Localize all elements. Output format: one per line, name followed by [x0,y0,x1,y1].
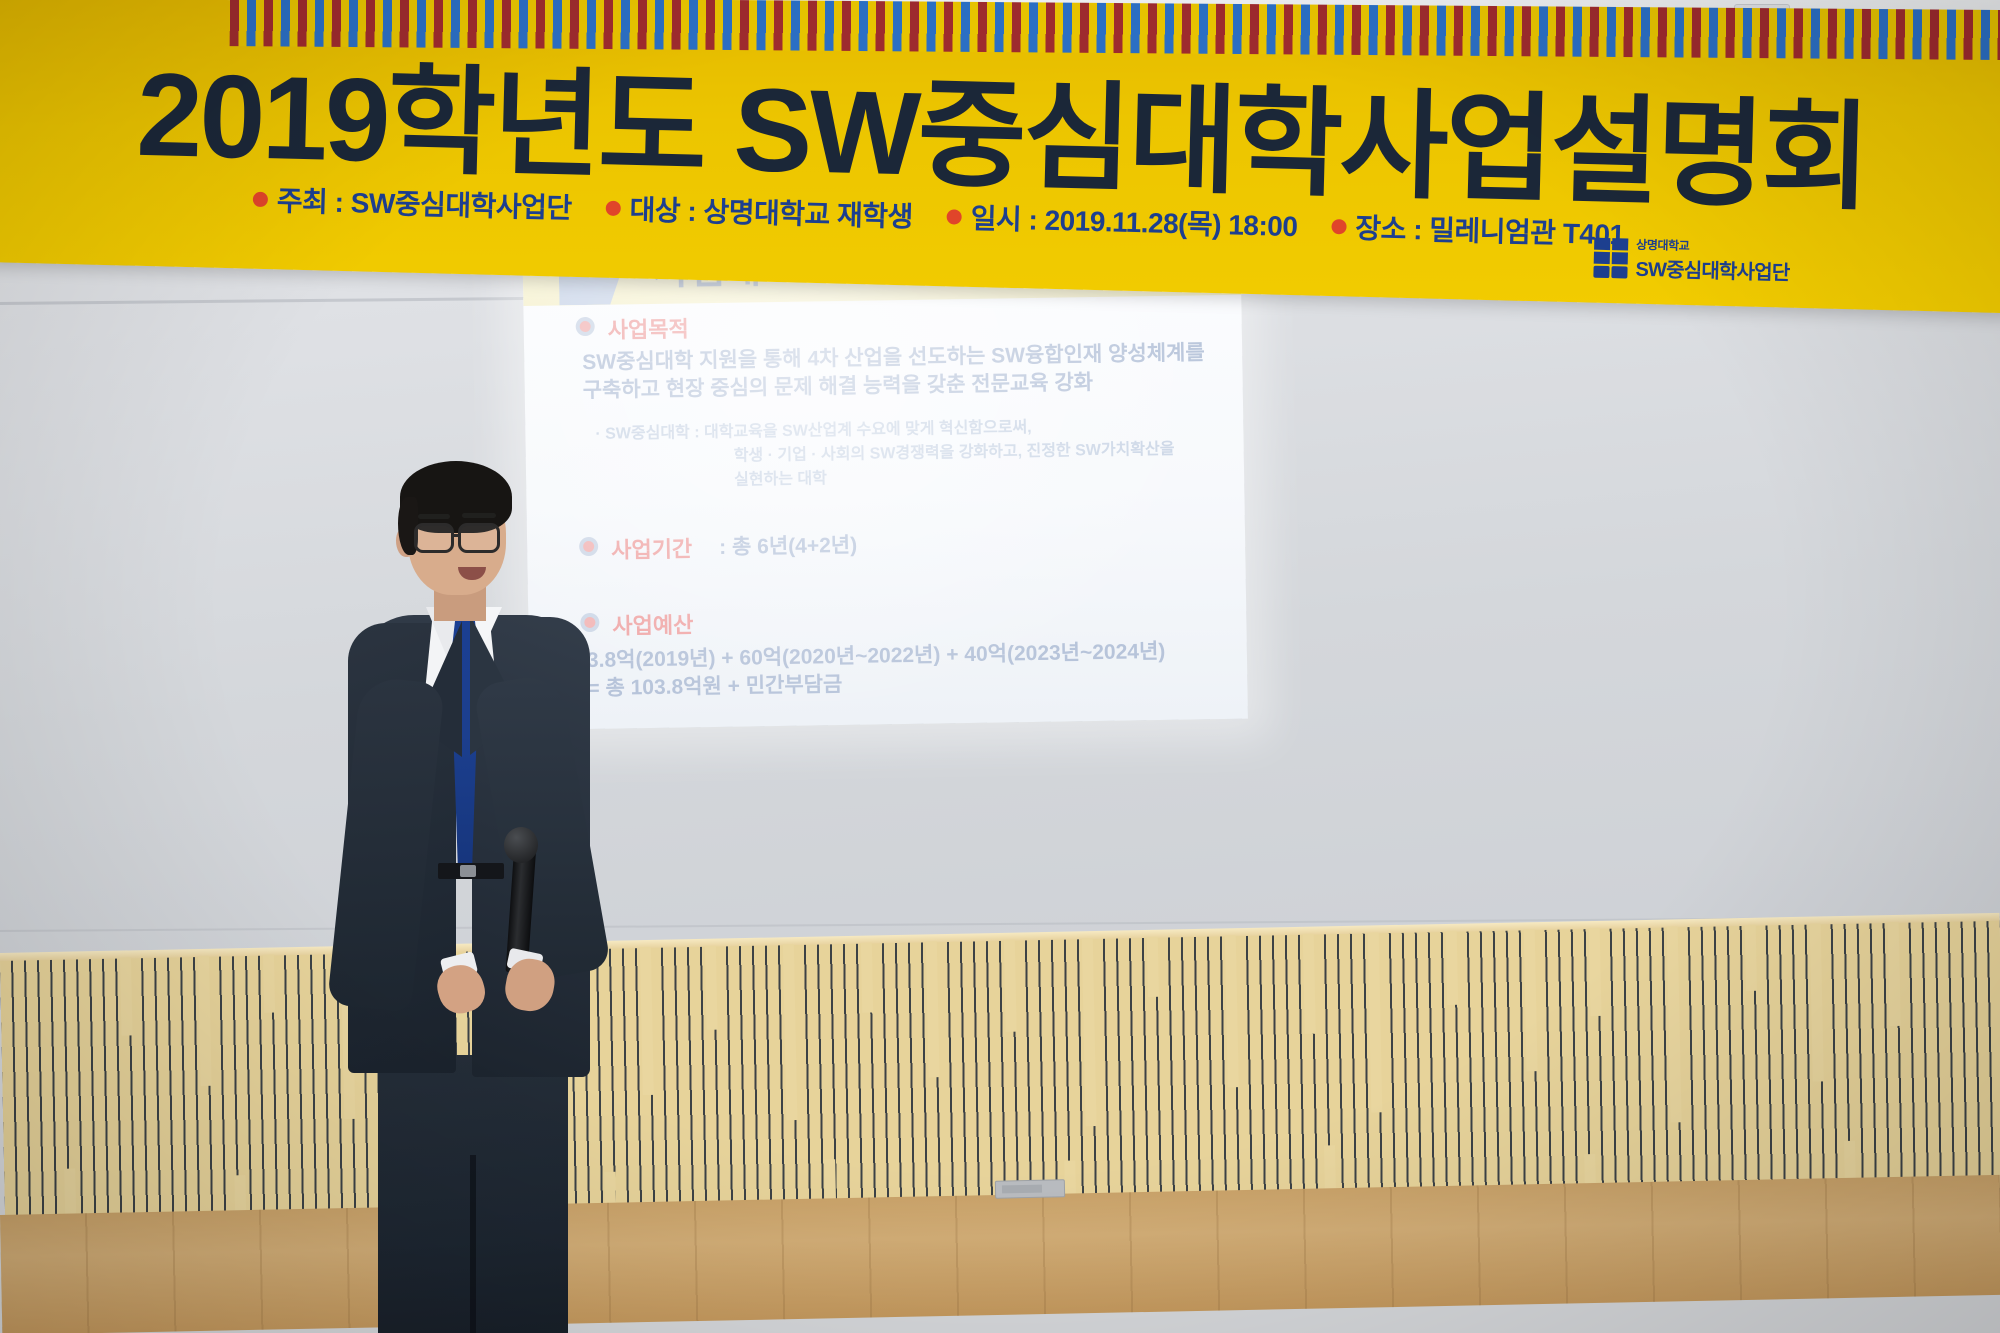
banner-info-label: 장소 : 밀레니엄관 T401 [1355,207,1625,254]
logo-program-name: SW중심대학사업단 [1635,253,1790,286]
purpose-subnote: · SW중심대학 : 대학교육을 SW산업계 수요에 맞게 혁신함으로써, 학생… [595,414,1175,495]
banner-info-label: 일시 : 2019.11.28(목) 18:00 [970,197,1298,245]
eyebrow-right [462,513,496,518]
red-dot-icon [605,200,620,215]
slat-stub [705,946,718,1030]
banner-info-label: 주최 : SW중심대학사업단 [276,179,572,226]
eyeglasses-right-lens [458,523,500,553]
slat-stub [1004,940,1017,1032]
event-banner: 2019학년도 SW중심대학사업설명회 주최 : SW중심대학사업단 대상 : … [0,0,2000,313]
organization-logo: 상명대학교 SW중심대학사업단 [1593,235,1790,286]
slat-stub [1589,928,1602,1016]
presenter-figure [330,455,630,1333]
slat-stub [120,957,133,1035]
section-heading: 사업목적 [607,311,688,344]
banner-info-item: 일시 : 2019.11.28(목) 18:00 [946,196,1298,245]
bullet-dot-icon [576,317,595,336]
banner-info-item: 장소 : 밀레니엄관 T401 [1331,206,1625,253]
slat-stub [1446,931,1458,1005]
eyeglasses-bridge [453,534,461,537]
slat-stub [1745,925,1757,991]
purpose-body: SW중심대학 지원을 통해 4차 산업을 선도하는 SW융합인재 양성체계를 구… [582,339,1205,405]
belt-buckle [460,865,476,877]
slat-stub [1303,934,1316,1034]
slat-stub [1888,922,1901,1026]
trouser-seam [470,1155,476,1333]
red-dot-icon [1331,219,1346,234]
section-inline-value: : 총 6년(4+2년) [719,529,857,561]
logo-mark-icon [1593,238,1628,279]
eyeglasses-left-lens [414,523,454,553]
floor-outlet-inner [1002,1185,1042,1194]
eyebrow-left [418,514,450,519]
budget-body: 3.8억(2019년) + 60억(2020년~2022년) + 40억(202… [587,638,1166,703]
slide-body: 사업목적 SW중심대학 지원을 통해 4차 산업을 선도하는 SW융합인재 양성… [523,295,1248,730]
banner-info-item: 주최 : SW중심대학사업단 [252,179,572,227]
banner-info-label: 대상 : 상명대학교 재학생 [629,188,913,235]
banner-info-item: 대상 : 상명대학교 재학생 [605,188,913,236]
slat-stub [1147,937,1159,997]
photo-scene: 66 사업개요 사업목적 SW중심대학 지원을 통해 4차 산업을 선도하는 S… [0,0,2000,1333]
slat-stub [861,942,873,1012]
slat-stub [263,955,275,1013]
logo-text-block: 상명대학교 SW중심대학사업단 [1635,236,1790,286]
red-dot-icon [947,209,962,224]
red-dot-icon [253,191,268,206]
